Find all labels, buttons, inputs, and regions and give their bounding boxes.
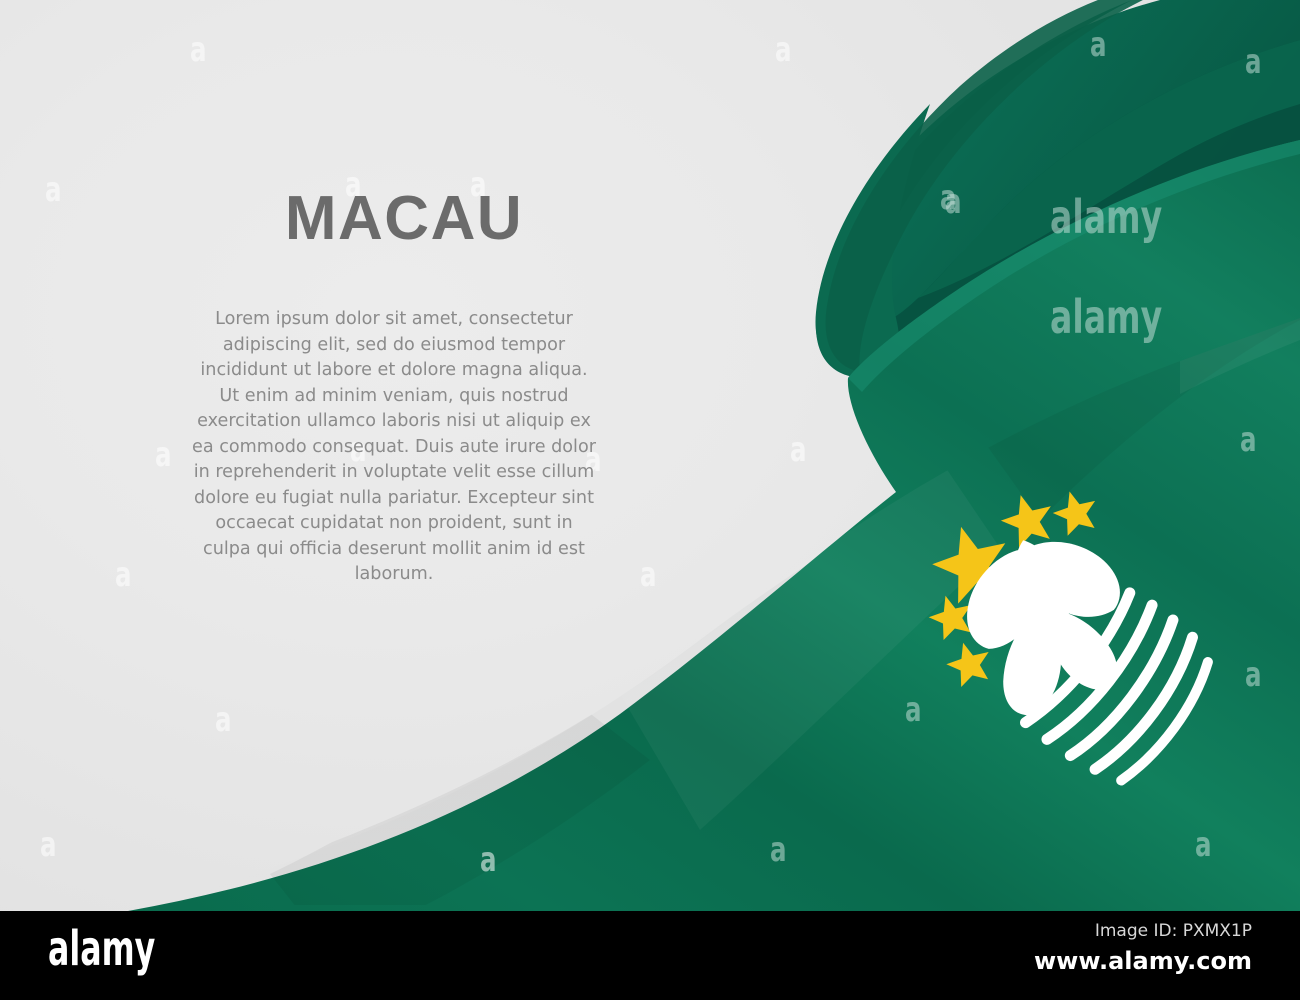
image-id-label: Image ID: PXMX1P	[1095, 921, 1252, 941]
alamy-url[interactable]: www.alamy.com	[1034, 947, 1252, 975]
artwork-canvas: aaaaaaaaaaaaaaaaaaaaaaaalamyalamy MACAU …	[0, 0, 1300, 911]
waving-ribbon-illustration	[0, 0, 1300, 911]
poster-stage: aaaaaaaaaaaaaaaaaaaaaaaalamyalamy MACAU …	[0, 0, 1300, 1000]
alamy-footer-bar: alamy Image ID: PXMX1P www.alamy.com	[0, 911, 1300, 1000]
ribbon-main-band	[128, 140, 1300, 911]
alamy-logo: alamy	[48, 921, 155, 977]
